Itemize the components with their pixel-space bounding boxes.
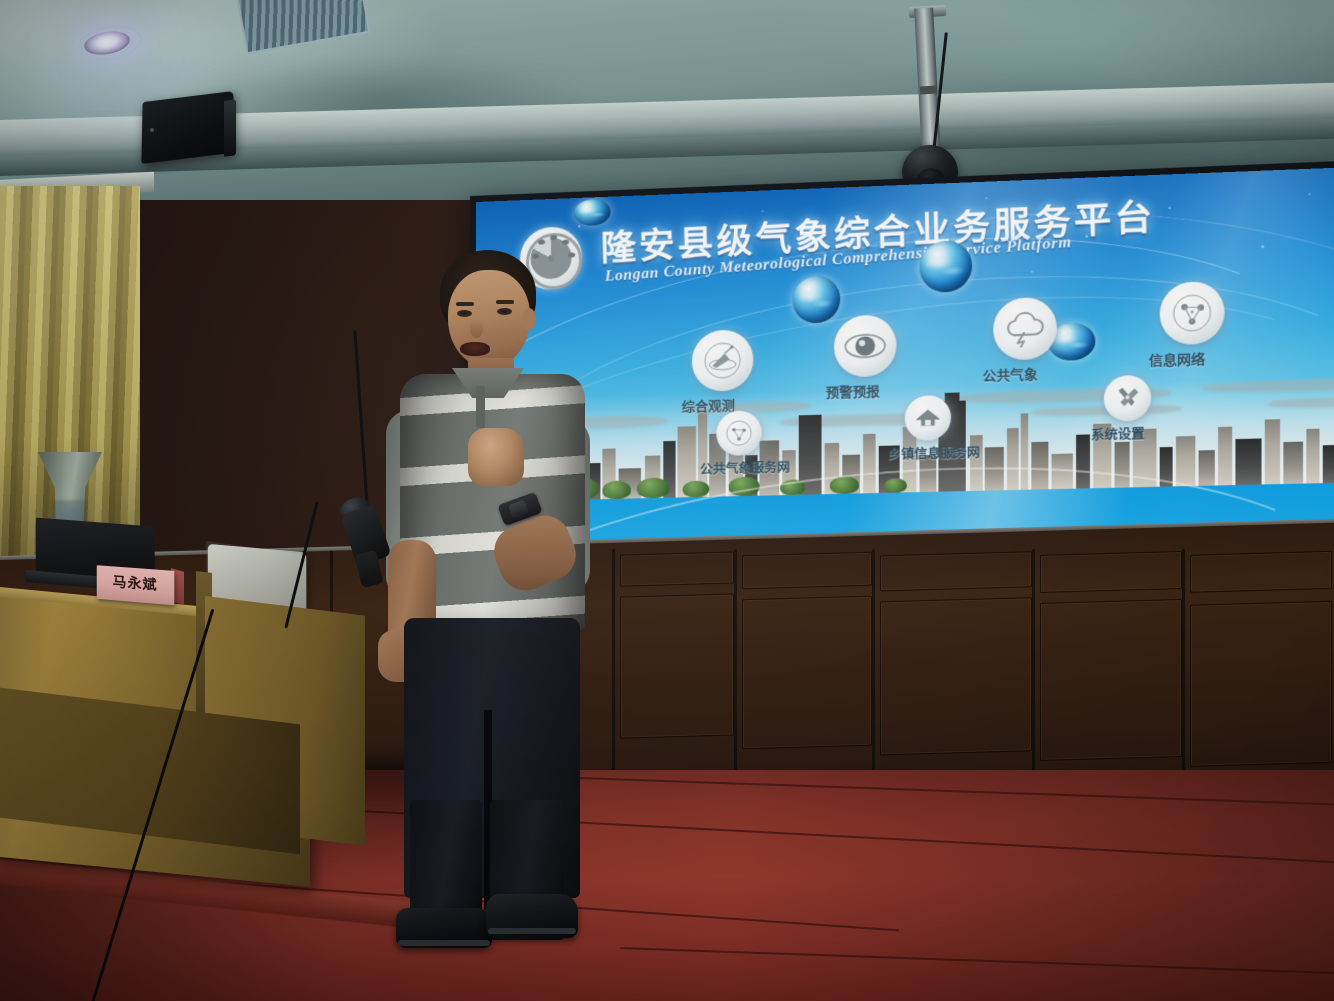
- icon-label-public-weather-service-net: 公共气象服务网: [700, 456, 790, 477]
- icon-label-system-settings: 系统设置: [1091, 423, 1145, 444]
- photo-scene: 隆安县级气象综合业务服务平台 Longan County Meteorologi…: [0, 0, 1334, 1001]
- icon-label-comprehensive-observation: 综合观测: [682, 395, 735, 416]
- presenter-raised-fist: [468, 428, 524, 486]
- camera-pole-joint: [920, 86, 937, 95]
- presenter-eye: [457, 310, 472, 317]
- icon-label-information-network: 信息网络: [1149, 348, 1205, 369]
- icon-label-township-info-service-net: 乡镇信息服务网: [888, 441, 980, 463]
- presenter-eye: [497, 308, 512, 315]
- wall-speaker-screw: [150, 128, 154, 132]
- presenter: [300, 240, 600, 940]
- presenter-ear: [522, 308, 536, 330]
- presenter-mouth: [460, 342, 490, 356]
- presenter-head: [448, 270, 530, 368]
- presenter-placket: [476, 386, 485, 428]
- wall-speaker-side: [224, 99, 236, 156]
- icon-label-warning-forecast: 预警预报: [826, 380, 880, 401]
- wall-speaker: [141, 91, 234, 164]
- icon-label-public-meteorology: 公共气象: [983, 363, 1038, 384]
- presenter-nose: [470, 320, 483, 338]
